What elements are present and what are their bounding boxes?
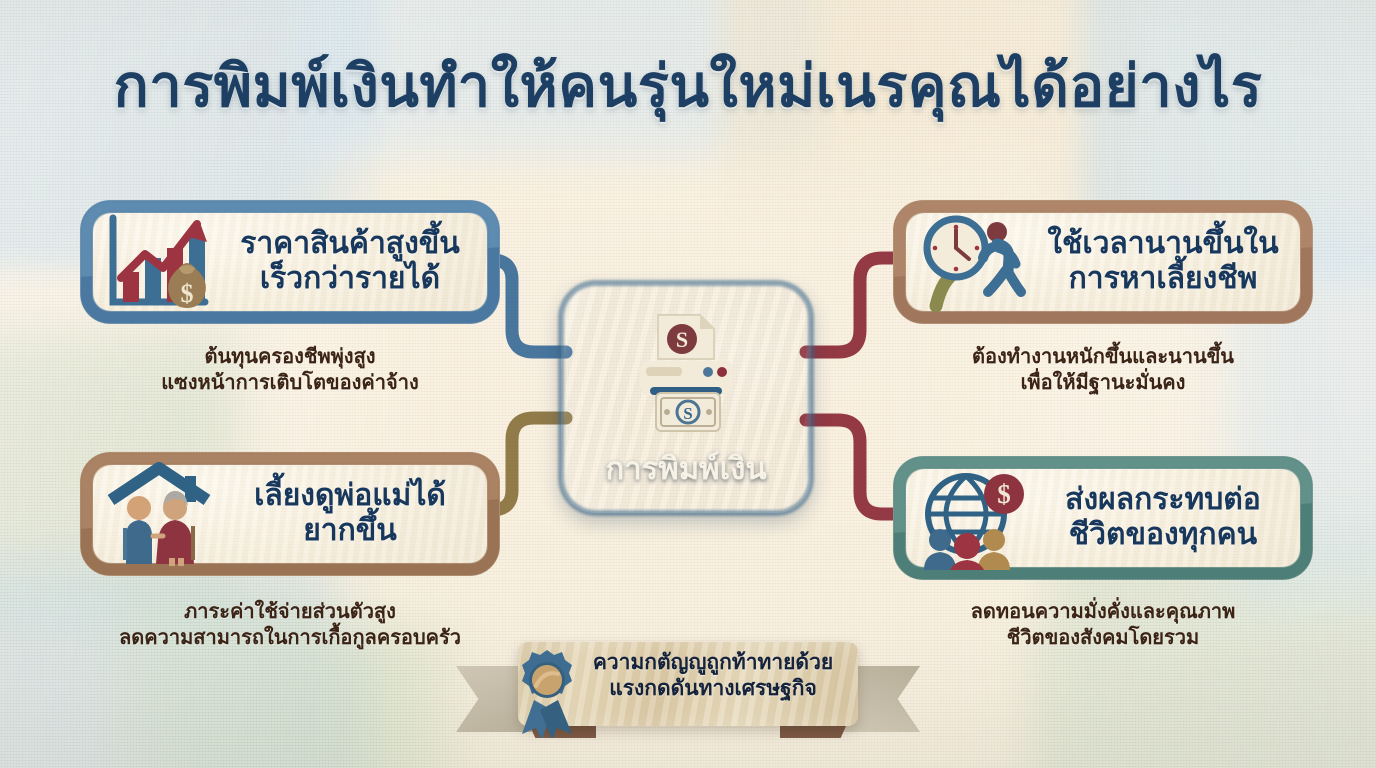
card-affects-everyone[interactable]: $ ส่งผลกระทบต่อ ชีวิตของทุกคน	[893, 456, 1313, 580]
card-heading: ส่งผลกระทบต่อ ชีวิตของทุกคน	[1038, 483, 1288, 553]
caption-line-2: ลดความสามารถในการเกื้อกูลครอบครัว	[70, 626, 510, 652]
rising-bar-chart-money-bag-icon: $	[101, 210, 219, 314]
card-heading-line-2: ชีวิตของทุกคน	[1038, 518, 1288, 553]
card-heading: ใช้เวลานานขึ้นใน การหาเลี้ยงชีพ	[1038, 227, 1288, 297]
caption-affects-everyone: ลดทอนความมั่งคั่งและคุณภาพ ชีวิตของสังคม…	[903, 600, 1303, 651]
svg-text:$: $	[181, 279, 194, 308]
caption-prices-rise: ต้นทุนครองชีพพุ่งสูง แซงหน้าการเติบโตของ…	[90, 345, 490, 396]
card-content: $ ส่งผลกระทบต่อ ชีวิตของทุกคน	[906, 469, 1300, 567]
hub-label: การพิมพ์เงิน	[561, 443, 811, 493]
card-content: $ ราคาสินค้าสูงขึ้น เร็วกว่ารายได้	[93, 213, 487, 311]
hub-money-printing[interactable]: S S การพิมพ์เงิน	[561, 283, 811, 513]
caption-line-1: ภาระค่าใช้จ่ายส่วนตัวสูง	[70, 600, 510, 626]
card-heading-line-1: ราคาสินค้าสูงขึ้น	[225, 227, 475, 262]
caption-harder-to-support-parents: ภาระค่าใช้จ่ายส่วนตัวสูง ลดความสามารถในก…	[70, 600, 510, 651]
money-printer-icon: S S	[620, 309, 752, 441]
card-heading-line-2: เร็วกว่ารายได้	[225, 262, 475, 297]
svg-text:S: S	[683, 404, 692, 423]
ribbon-text: ความกตัญญูถูกท้าทายด้วย แรงกดดันทางเศรษฐ…	[574, 650, 852, 703]
elderly-couple-house-icon	[101, 462, 219, 566]
caption-line-1: ต้นทุนครองชีพพุ่งสูง	[90, 345, 490, 371]
globe-dollar-people-icon: $	[914, 466, 1032, 570]
caption-line-1: ลดทอนความมั่งคั่งและคุณภาพ	[903, 600, 1303, 626]
card-heading: เลี้ยงดูพ่อแม่ได้ ยากขึ้น	[225, 479, 475, 549]
ribbon-line-2: แรงกดดันทางเศรษฐกิจ	[574, 676, 852, 702]
card-heading-line-1: ใช้เวลานานขึ้นใน	[1038, 227, 1288, 262]
svg-text:$: $	[997, 479, 1011, 509]
caption-line-2: ชีวิตของสังคมโดยรวม	[903, 626, 1303, 652]
card-longer-time-to-earn[interactable]: ใช้เวลานานขึ้นใน การหาเลี้ยงชีพ	[893, 200, 1313, 324]
card-heading-line-2: ยากขึ้น	[225, 514, 475, 549]
ribbon-line-1: ความกตัญญูถูกท้าทายด้วย	[574, 650, 852, 676]
card-content: เลี้ยงดูพ่อแม่ได้ ยากขึ้น	[93, 465, 487, 563]
card-heading-line-1: เลี้ยงดูพ่อแม่ได้	[225, 479, 475, 514]
card-heading: ราคาสินค้าสูงขึ้น เร็วกว่ารายได้	[225, 227, 475, 297]
card-prices-rise[interactable]: $ ราคาสินค้าสูงขึ้น เร็วกว่ารายได้	[80, 200, 500, 324]
card-heading-line-1: ส่งผลกระทบต่อ	[1038, 483, 1288, 518]
caption-line-2: เพื่อให้มีฐานะมั่นคง	[903, 371, 1303, 397]
card-harder-to-support-parents[interactable]: เลี้ยงดูพ่อแม่ได้ ยากขึ้น	[80, 452, 500, 576]
caption-line-2: แซงหน้าการเติบโตของค่าจ้าง	[90, 371, 490, 397]
card-heading-line-2: การหาเลี้ยงชีพ	[1038, 262, 1288, 297]
card-content: ใช้เวลานานขึ้นใน การหาเลี้ยงชีพ	[906, 213, 1300, 311]
caption-line-1: ต้องทำงานหนักขึ้นและนานขึ้น	[903, 345, 1303, 371]
infographic-canvas: การพิมพ์เงินทำให้คนรุ่นใหม่เนรคุณได้อย่า…	[0, 0, 1376, 768]
caption-longer-time-to-earn: ต้องทำงานหนักขึ้นและนานขึ้น เพื่อให้มีฐา…	[903, 345, 1303, 396]
clock-walking-person-path-icon	[914, 210, 1032, 314]
ribbon-banner[interactable]: ความกตัญญูถูกท้าทายด้วย แรงกดดันทางเศรษฐ…	[456, 636, 920, 748]
svg-text:S: S	[676, 327, 688, 352]
